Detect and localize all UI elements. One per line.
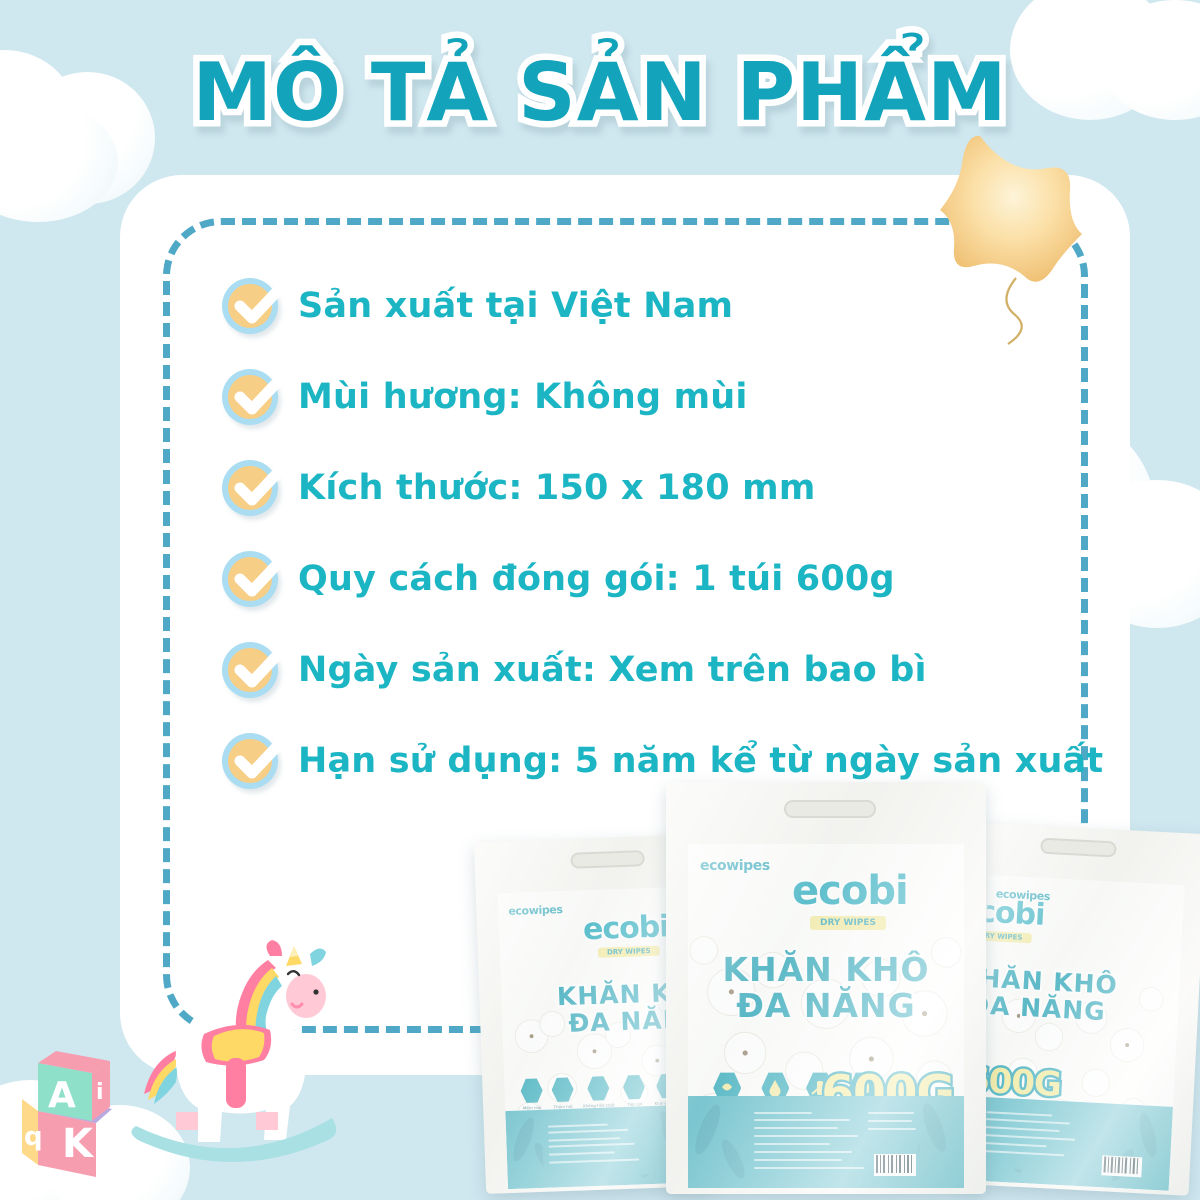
package-right: ecowipes ecobi DRY WIPES KHĂN KHÔĐA NĂNG…	[957, 822, 1200, 1196]
feature-text: Kích thước: 150 x 180 mm	[298, 468, 816, 508]
svg-text:q: q	[24, 1122, 43, 1152]
list-item: Kích thước: 150 x 180 mm	[222, 444, 1042, 532]
list-item: Mùi hương: Không mùi	[222, 353, 1042, 441]
feature-text: Quy cách đóng gói: 1 túi 600g	[298, 559, 895, 599]
check-circle-icon	[222, 642, 278, 698]
svg-text:i: i	[96, 1080, 104, 1105]
package-center: ecowipes ecobi DRY WIPES KHĂN KHÔĐA NĂNG…	[666, 782, 986, 1194]
feature-text: Sản xuất tại Việt Nam	[298, 286, 733, 326]
check-circle-icon	[222, 460, 278, 516]
check-circle-icon	[222, 278, 278, 334]
check-circle-icon	[222, 369, 278, 425]
check-circle-icon	[222, 733, 278, 789]
product-packages: ecowipes ecobi DRY WIPES KHĂN KHÔĐA NĂNG…	[470, 760, 1200, 1200]
svg-text:K: K	[62, 1121, 95, 1167]
feature-text: Ngày sản xuất: Xem trên bao bì	[298, 650, 927, 690]
svg-text:A: A	[48, 1075, 76, 1116]
rocking-unicorn-toy	[120, 930, 350, 1185]
list-item: Ngày sản xuất: Xem trên bao bì	[222, 626, 1042, 714]
list-item: Quy cách đóng gói: 1 túi 600g	[222, 535, 1042, 623]
check-circle-icon	[222, 551, 278, 607]
alphabet-blocks: K q A i	[12, 1035, 142, 1185]
feature-text: Mùi hương: Không mùi	[298, 377, 748, 417]
star-balloon	[912, 118, 1112, 363]
